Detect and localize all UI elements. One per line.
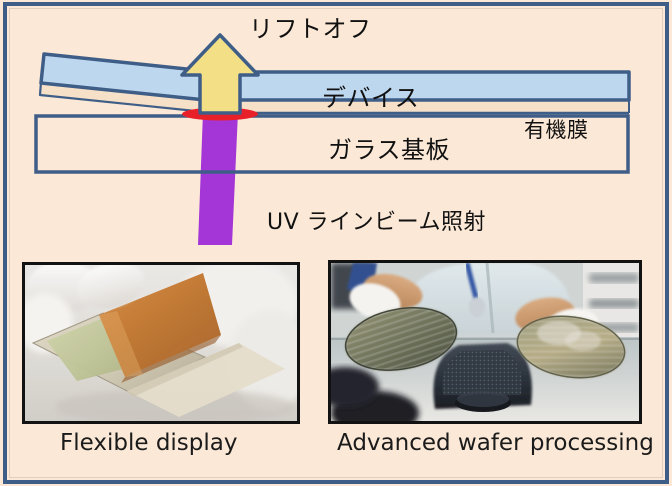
lift-off-process-diagram: リフトオフ デバイス ガラス基板 有機膜 UV ラインビーム照射: [0, 0, 672, 260]
advanced-wafer-processing-caption: Advanced wafer processing: [337, 430, 654, 456]
advanced-wafer-processing-photo: [328, 260, 642, 424]
slide-canvas: リフトオフ デバイス ガラス基板 有機膜 UV ラインビーム照射: [0, 0, 672, 486]
uv-beam-shape: [198, 112, 238, 245]
label-lift-off: リフトオフ: [249, 9, 372, 44]
flexible-display-photo-artwork: [25, 265, 297, 421]
organic-film-flat: [215, 100, 629, 113]
advanced-wafer-processing-photo-artwork: [331, 263, 639, 421]
flexible-display-photo: [22, 262, 300, 424]
device-layer-flat: [215, 72, 629, 100]
label-device: デバイス: [322, 78, 419, 113]
label-organic-film: 有機膜: [524, 114, 589, 144]
flexible-display-caption: Flexible display: [60, 430, 238, 456]
label-glass-substrate: ガラス基板: [328, 130, 450, 165]
label-uv-line-beam: UV ラインビーム照射: [267, 204, 486, 236]
